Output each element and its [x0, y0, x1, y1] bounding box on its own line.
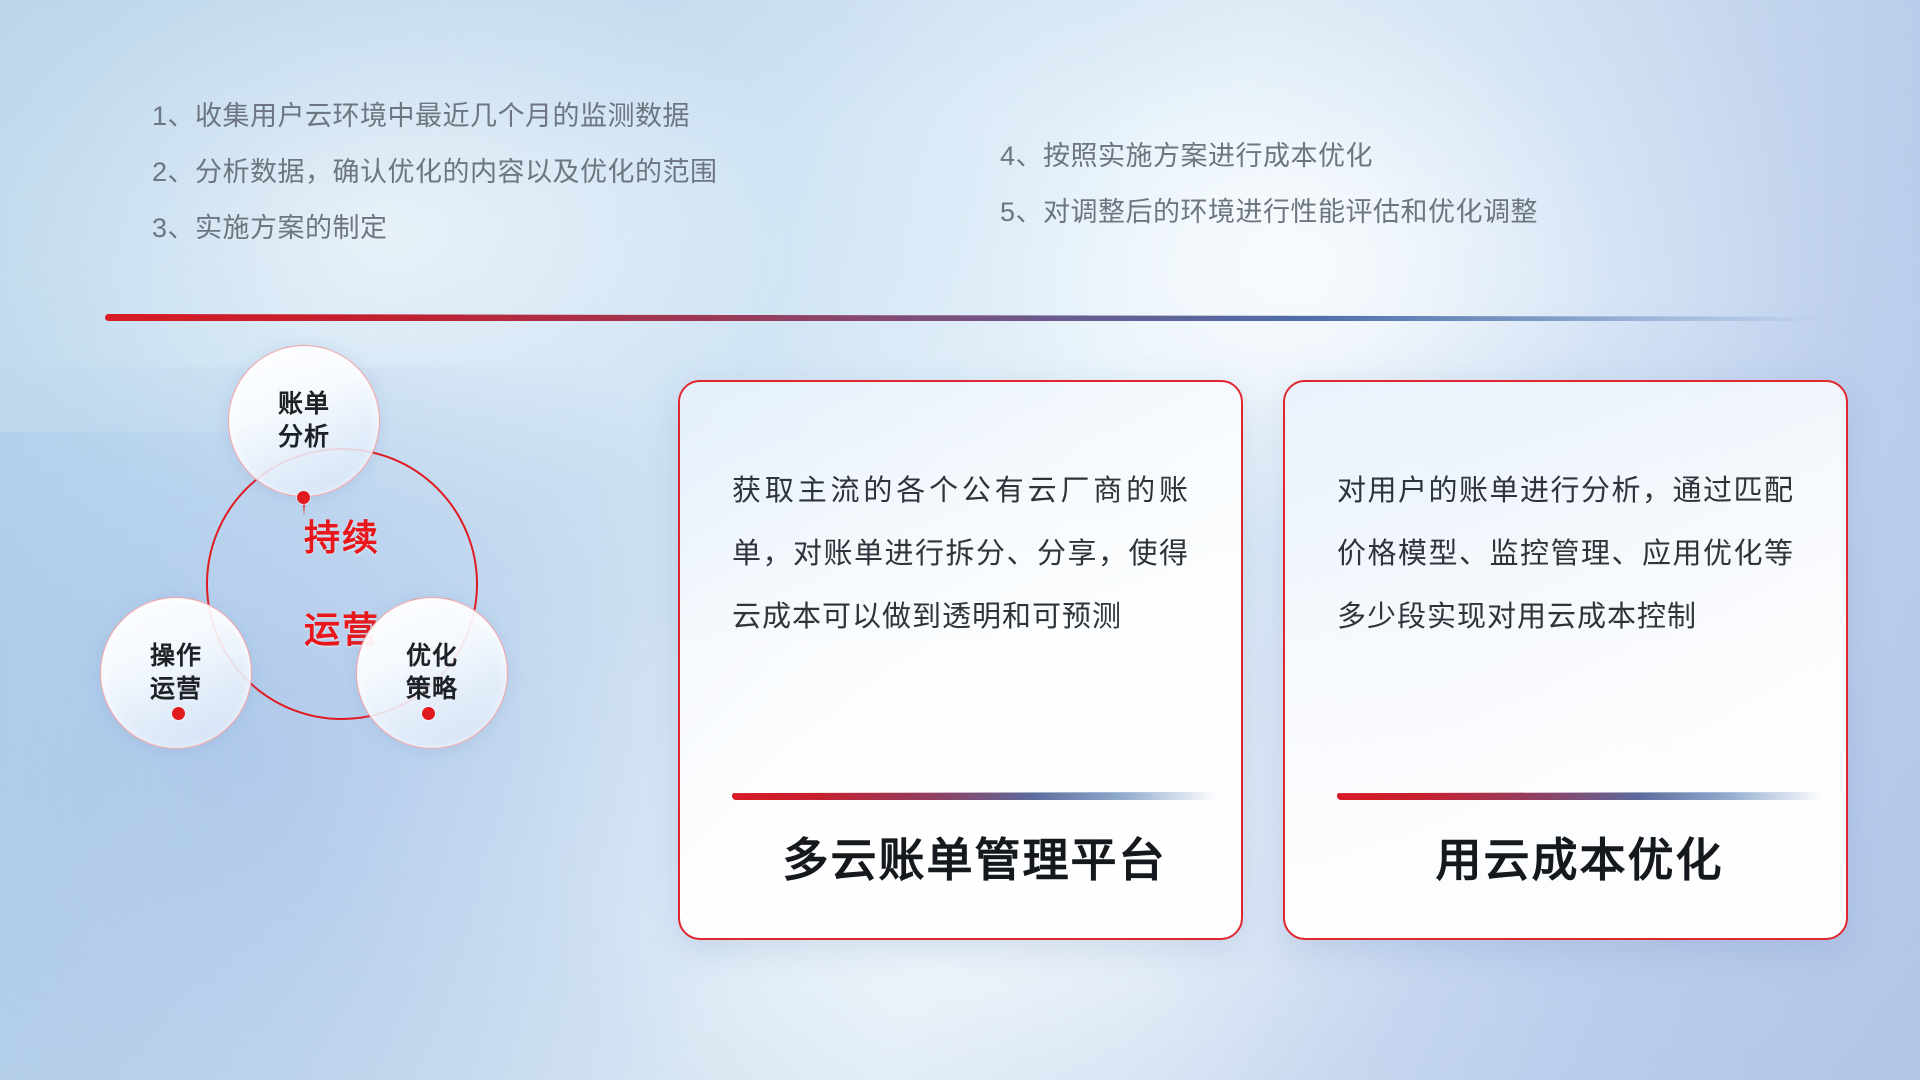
- venn-node-dot-bottom-left: [172, 707, 185, 720]
- venn-center-line1: 持续: [304, 515, 380, 561]
- venn-circle-label: 优化 策略: [406, 640, 458, 706]
- process-step-item: 5、对调整后的环境进行性能评估和优化调整: [1000, 184, 1538, 240]
- process-step-column-right: 4、按照实施方案进行成本优化 5、对调整后的环境进行性能评估和优化调整: [1000, 128, 1538, 240]
- process-step-item: 4、按照实施方案进行成本优化: [1000, 128, 1538, 184]
- venn-connector-tick: [303, 502, 305, 516]
- feature-card-cloud-cost-optimization[interactable]: 对用户的账单进行分析，通过匹配价格模型、监控管理、应用优化等多少段实现对用云成本…: [1283, 380, 1848, 940]
- venn-node-dot-bottom-right: [422, 707, 435, 720]
- card-accent-rule: [1337, 792, 1822, 800]
- venn-circle-optimization-strategy[interactable]: 优化 策略: [356, 597, 508, 749]
- venn-diagram: 持续 运营 账单 分析 操作 运营 优化 策略: [100, 345, 560, 775]
- venn-circle-line2: 分析: [278, 423, 330, 451]
- venn-circle-line1: 优化: [406, 642, 458, 670]
- card-body-text: 获取主流的各个公有云厂商的账单，对账单进行拆分、分享，使得云成本可以做到透明和可…: [732, 460, 1189, 649]
- venn-circle-line2: 策略: [406, 675, 458, 703]
- process-step-item: 2、分析数据，确认优化的内容以及优化的范围: [152, 144, 718, 200]
- process-step-list: 1、收集用户云环境中最近几个月的监测数据 2、分析数据，确认优化的内容以及优化的…: [0, 88, 1920, 248]
- slide-content: 1、收集用户云环境中最近几个月的监测数据 2、分析数据，确认优化的内容以及优化的…: [0, 0, 1920, 1080]
- section-divider: [105, 314, 1822, 321]
- card-accent-rule: [732, 792, 1217, 800]
- card-title: 用云成本优化: [1337, 824, 1822, 890]
- venn-circle-line1: 操作: [150, 642, 202, 670]
- venn-circle-label: 账单 分析: [278, 388, 330, 454]
- venn-circle-billing-analysis[interactable]: 账单 分析: [228, 345, 380, 497]
- card-title: 多云账单管理平台: [732, 824, 1217, 890]
- venn-node-dot-top: [297, 491, 310, 504]
- venn-circle-line1: 账单: [278, 390, 330, 418]
- venn-circle-operations[interactable]: 操作 运营: [100, 597, 252, 749]
- card-body-text: 对用户的账单进行分析，通过匹配价格模型、监控管理、应用优化等多少段实现对用云成本…: [1337, 460, 1794, 649]
- venn-circle-line2: 运营: [150, 675, 202, 703]
- process-step-item: 1、收集用户云环境中最近几个月的监测数据: [152, 88, 718, 144]
- venn-circle-label: 操作 运营: [150, 640, 202, 706]
- process-step-item: 3、实施方案的制定: [152, 200, 718, 256]
- feature-card-multicloud-billing[interactable]: 获取主流的各个公有云厂商的账单，对账单进行拆分、分享，使得云成本可以做到透明和可…: [678, 380, 1243, 940]
- process-step-column-left: 1、收集用户云环境中最近几个月的监测数据 2、分析数据，确认优化的内容以及优化的…: [152, 88, 718, 256]
